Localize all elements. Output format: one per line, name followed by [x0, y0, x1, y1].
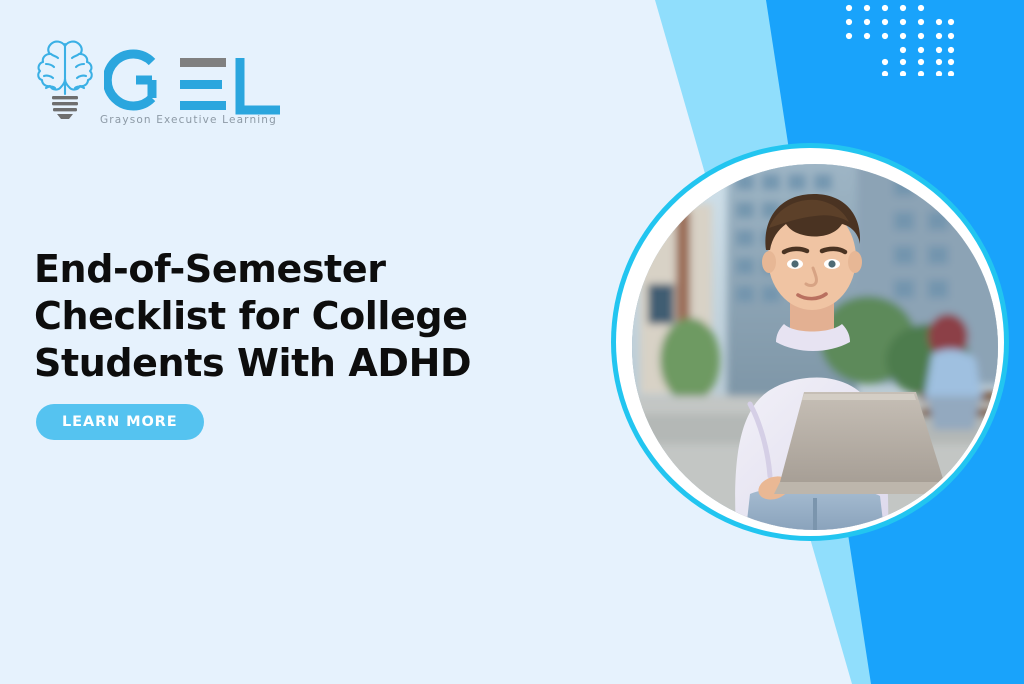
student-with-laptop-photo — [632, 164, 998, 530]
logo-letter-e-base — [180, 101, 226, 110]
page-title: End-of-Semester Checklist for College St… — [34, 246, 504, 387]
learn-more-button[interactable]: LEARN MORE — [36, 404, 204, 440]
photo-medallion-white-ring — [616, 148, 1004, 536]
logo-letter-l — [240, 58, 280, 110]
photo-medallion-outer-ring — [611, 143, 1009, 541]
logo-letter-g — [107, 54, 152, 106]
logo-letter-e-bar — [180, 58, 226, 67]
logo-letter-e-mid — [180, 80, 222, 89]
brain-lightbulb-icon — [32, 34, 98, 120]
brand-logo[interactable]: Grayson Executive Learning — [32, 34, 292, 130]
dot-grid-decoration — [845, 4, 955, 76]
brand-tagline: Grayson Executive Learning — [100, 114, 290, 126]
promo-banner: Grayson Executive Learning End-of-Semest… — [0, 0, 1024, 684]
